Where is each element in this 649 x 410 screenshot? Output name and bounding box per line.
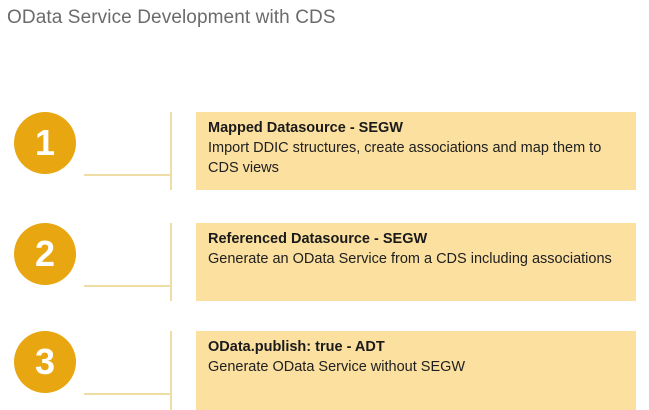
step-number-badge-3: 3 [14, 331, 76, 393]
step-description-2: Generate an OData Service from a CDS inc… [208, 250, 624, 270]
connector-vertical-3 [170, 331, 172, 410]
step-content-box-3: OData.publish: true - ADT Generate OData… [196, 331, 636, 410]
step-number-label: 2 [35, 236, 55, 272]
step-content-box-1: Mapped Datasource - SEGW Import DDIC str… [196, 112, 636, 190]
connector-horizontal-2 [84, 285, 172, 287]
connector-vertical-1 [170, 112, 172, 190]
step-number-badge-1: 1 [14, 112, 76, 174]
step-number-label: 1 [35, 125, 55, 161]
step-description-3: Generate OData Service without SEGW [208, 358, 624, 378]
page-title: OData Service Development with CDS [7, 7, 336, 29]
connector-vertical-2 [170, 223, 172, 301]
step-heading-2: Referenced Datasource - SEGW [208, 230, 624, 249]
step-number-badge-2: 2 [14, 223, 76, 285]
step-content-box-2: Referenced Datasource - SEGW Generate an… [196, 223, 636, 301]
slide-canvas: OData Service Development with CDS 1 Map… [0, 0, 649, 410]
connector-horizontal-3 [84, 393, 172, 395]
connector-horizontal-1 [84, 174, 172, 176]
step-heading-3: OData.publish: true - ADT [208, 338, 624, 357]
step-number-label: 3 [35, 344, 55, 380]
step-heading-1: Mapped Datasource - SEGW [208, 119, 624, 138]
step-description-1: Import DDIC structures, create associati… [208, 139, 624, 178]
